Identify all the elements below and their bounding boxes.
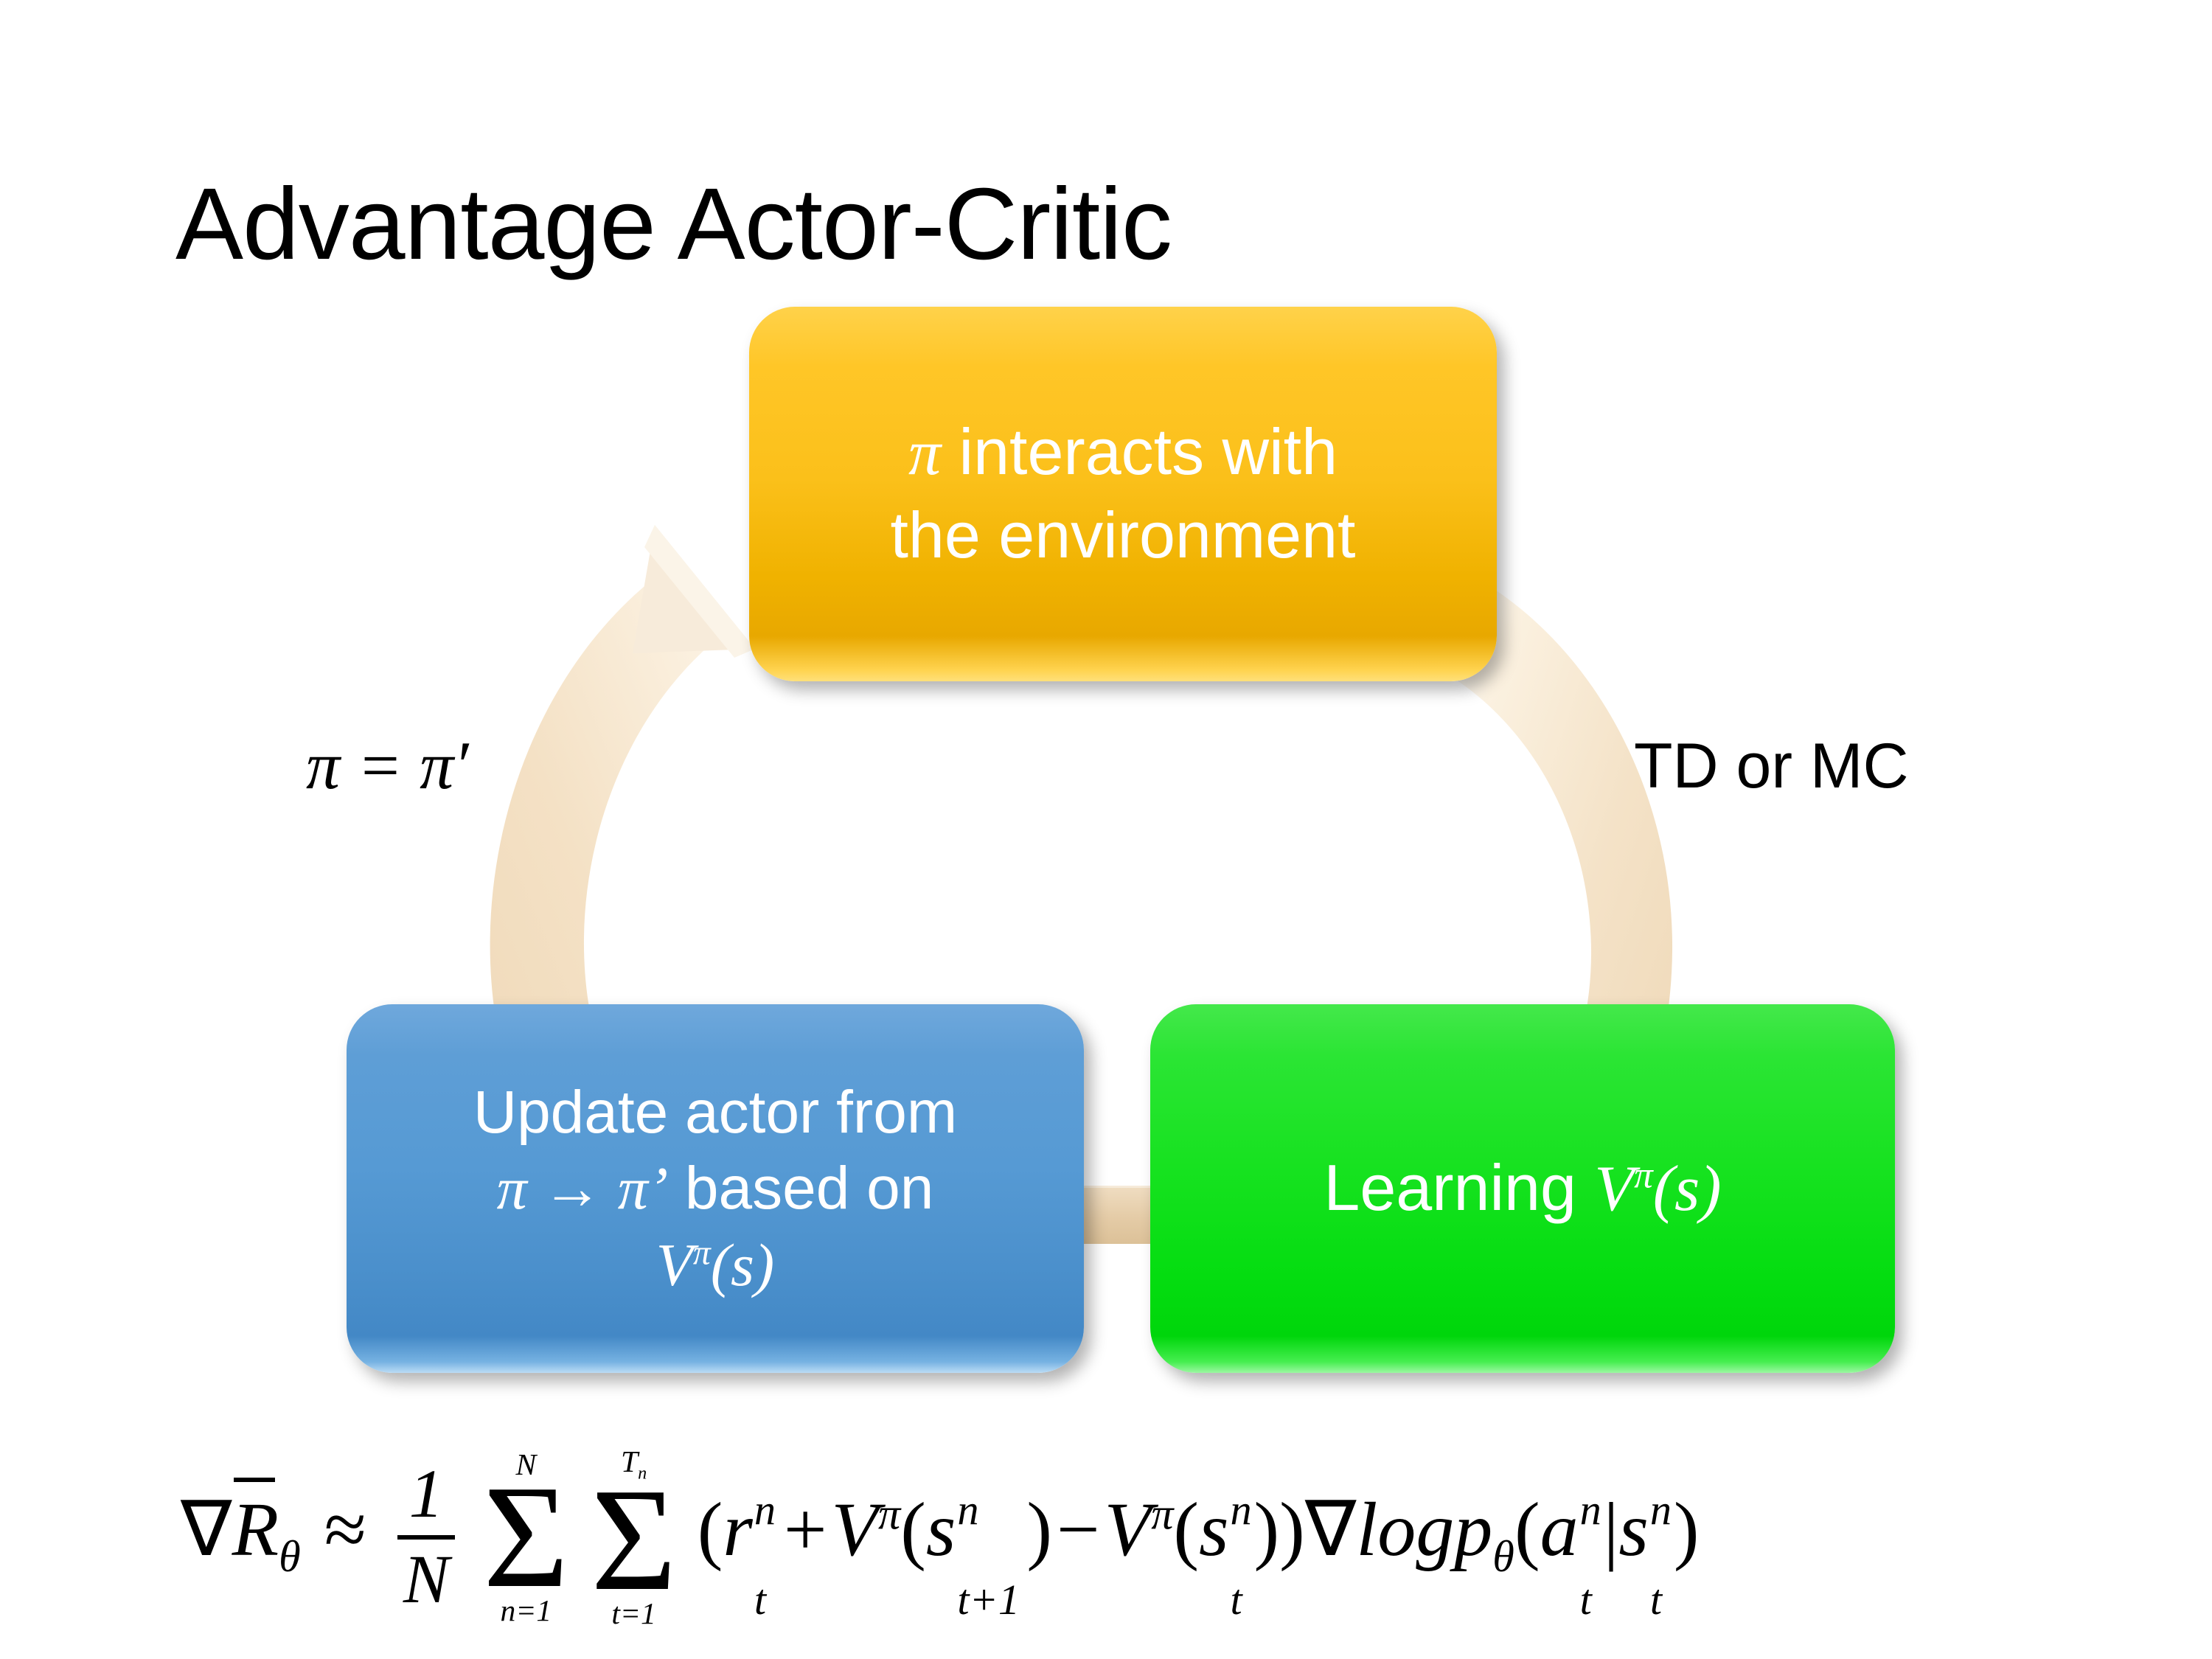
node-environment-text: π interacts with the environment bbox=[749, 411, 1497, 577]
sigma-glyph: Σ bbox=[591, 1481, 676, 1599]
minus-sign: − bbox=[1052, 1487, 1105, 1572]
action-a: a bbox=[1540, 1487, 1579, 1572]
V-close-paren: ) bbox=[1026, 1487, 1052, 1572]
sum-lower-limit-n: n=1 bbox=[501, 1596, 552, 1624]
s-superscript-n: n bbox=[1650, 1485, 1672, 1534]
V-superscript-pi: π bbox=[1151, 1489, 1173, 1539]
sum-over-timesteps: Tn Σ t=1 bbox=[591, 1447, 676, 1628]
state-s-condition: s bbox=[1618, 1487, 1648, 1572]
sum-over-episodes: N Σ n=1 bbox=[483, 1450, 568, 1624]
reward-r: r bbox=[723, 1487, 752, 1572]
p-open-paren: ( bbox=[1514, 1487, 1540, 1572]
node-environment-line1: interacts with bbox=[941, 415, 1338, 488]
p-subscript-theta: θ bbox=[1492, 1532, 1514, 1582]
fraction-denominator: N bbox=[397, 1544, 455, 1616]
value-function-superscript-pi: π bbox=[1634, 1155, 1653, 1196]
value-function-V: V bbox=[656, 1231, 693, 1298]
V-open-paren: ( bbox=[1173, 1487, 1199, 1572]
node-actor-update-text: Update actor from π → π’ based on Vπ(s) bbox=[347, 1074, 1084, 1303]
s-superscript-n: n bbox=[957, 1485, 978, 1534]
expected-reward-R: R bbox=[232, 1486, 279, 1573]
node-environment-line2: the environment bbox=[890, 498, 1355, 571]
arrow-glyph: → bbox=[527, 1155, 618, 1222]
conditional-bar: | bbox=[1604, 1487, 1619, 1572]
a-subscript-t: t bbox=[1580, 1575, 1592, 1624]
plus-sign: + bbox=[779, 1487, 832, 1572]
nabla-icon: ∇ bbox=[181, 1487, 232, 1572]
fraction-numerator: 1 bbox=[403, 1458, 450, 1531]
left-arrow-label: π = π′ bbox=[306, 726, 468, 804]
s-subscript-t: t bbox=[1650, 1575, 1662, 1624]
V-open-paren: ( bbox=[900, 1487, 926, 1572]
s-subscript-t: t bbox=[1231, 1575, 1242, 1624]
log-operator: log bbox=[1356, 1487, 1454, 1572]
value-function-argument: (s) bbox=[711, 1231, 775, 1298]
node-actor-update[interactable]: Update actor from π → π’ based on Vπ(s) bbox=[347, 1004, 1084, 1373]
open-paren: ( bbox=[698, 1487, 723, 1572]
close-paren: ) bbox=[1279, 1487, 1305, 1572]
theta-subscript: θ bbox=[279, 1532, 301, 1582]
state-s-current: s bbox=[1199, 1487, 1228, 1572]
state-s-next: s bbox=[926, 1487, 956, 1572]
pi-symbol: π bbox=[908, 417, 941, 489]
value-function-argument: (s) bbox=[1653, 1153, 1722, 1225]
value-function-V-next: V bbox=[831, 1487, 878, 1572]
page-title: Advantage Actor-Critic bbox=[175, 171, 1172, 278]
sigma-glyph: Σ bbox=[483, 1478, 568, 1596]
pi-symbol-from: π bbox=[497, 1155, 527, 1222]
s-superscript-n: n bbox=[1231, 1485, 1252, 1534]
node-critic-learning[interactable]: Learning Vπ(s) bbox=[1150, 1004, 1895, 1373]
fraction-bar bbox=[397, 1535, 455, 1540]
node-actor-line2-text: based on bbox=[668, 1155, 933, 1222]
approx-sign: ≈ bbox=[320, 1487, 371, 1572]
policy-gradient-formula: ∇Rθ ≈ 1 N N Σ n=1 Tn Σ t=1 (rnt+Vπ(snt+1… bbox=[181, 1427, 2157, 1648]
s-subscript-t-plus-1: t+1 bbox=[957, 1575, 1020, 1624]
connector-critic-to-actor bbox=[1081, 1186, 1155, 1244]
V-close-paren: ) bbox=[1254, 1487, 1280, 1572]
value-function-V: V bbox=[1594, 1153, 1634, 1225]
r-superscript-n: n bbox=[754, 1485, 776, 1534]
p-close-paren: ) bbox=[1674, 1487, 1700, 1572]
V-superscript-pi: π bbox=[878, 1489, 900, 1539]
right-arrow-label: TD or MC bbox=[1634, 730, 1909, 803]
r-subscript-t: t bbox=[754, 1575, 766, 1624]
node-critic-learning-text: Learning Vπ(s) bbox=[1150, 1147, 1895, 1231]
node-actor-line1: Update actor from bbox=[473, 1079, 957, 1146]
one-over-N-fraction: 1 N bbox=[397, 1458, 455, 1615]
node-environment[interactable]: π interacts with the environment bbox=[749, 307, 1497, 681]
pi-prime-symbol: π’ bbox=[618, 1155, 668, 1222]
nabla-icon: ∇ bbox=[1305, 1487, 1357, 1572]
value-function-superscript-pi: π bbox=[693, 1234, 711, 1272]
a-superscript-n: n bbox=[1580, 1485, 1601, 1534]
value-function-V-current: V bbox=[1105, 1487, 1152, 1572]
slide-canvas: Advantage Actor-Critic bbox=[0, 0, 2212, 1659]
node-critic-label: Learning bbox=[1324, 1151, 1594, 1224]
policy-probability-p: p bbox=[1454, 1487, 1492, 1572]
sum-lower-limit-t: t=1 bbox=[611, 1599, 655, 1627]
